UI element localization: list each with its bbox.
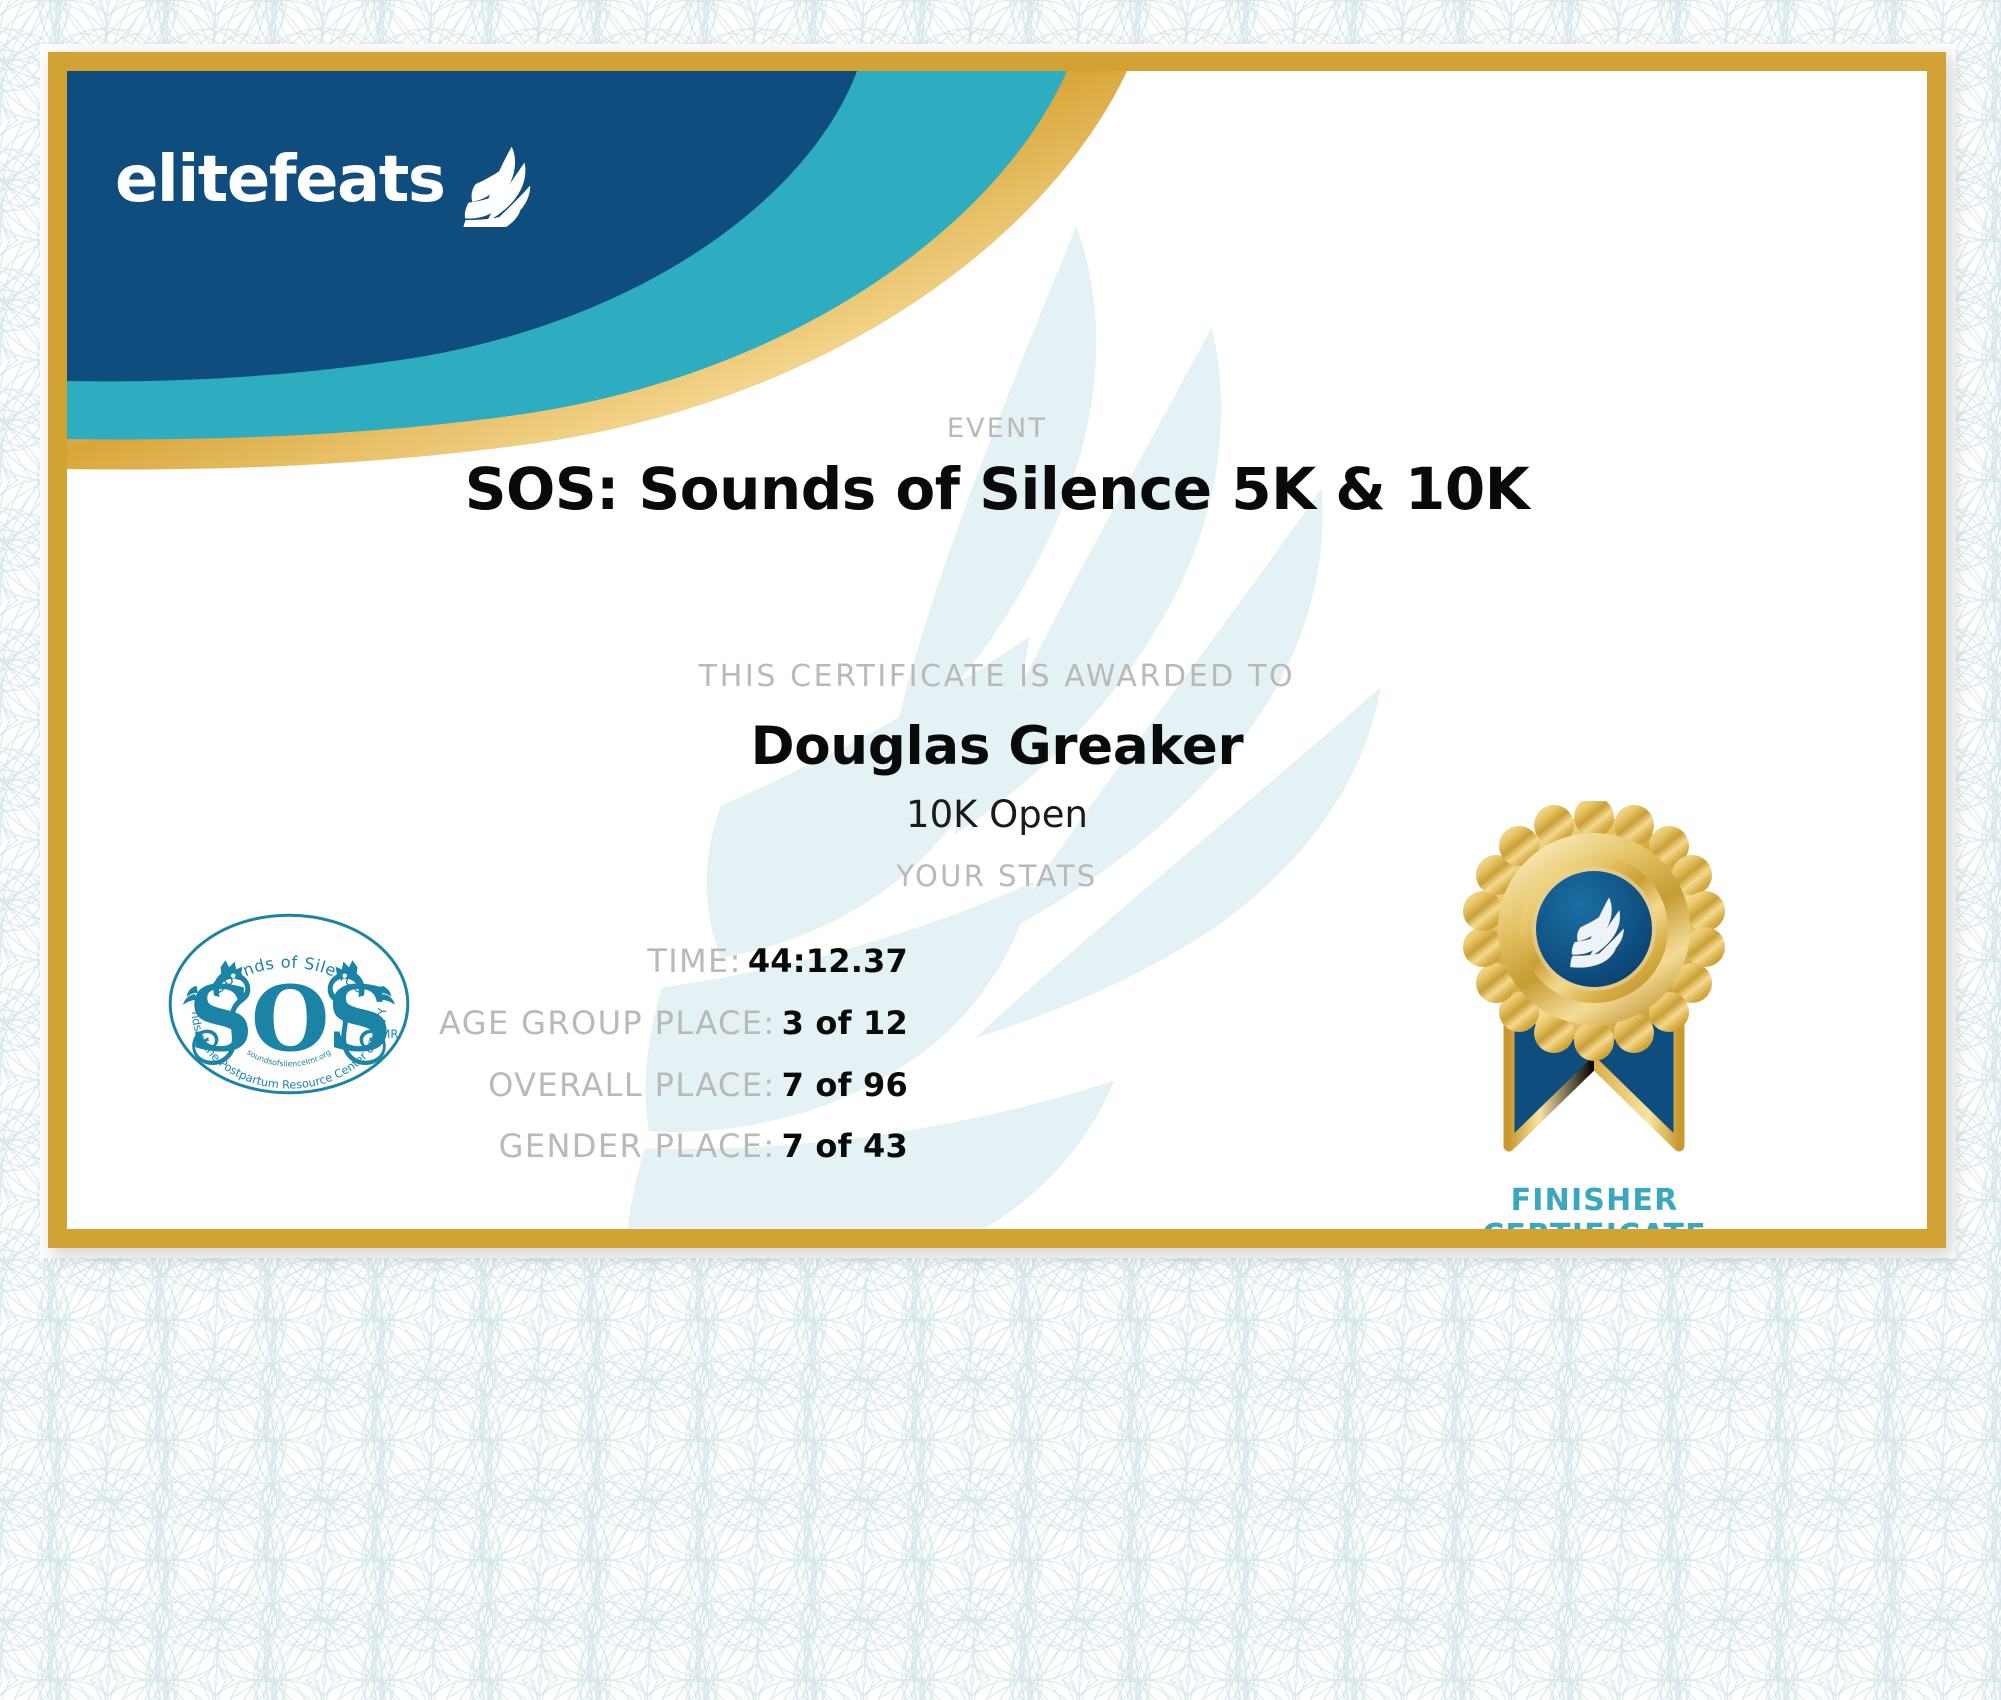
- elitefeats-logo: elitefeats: [115, 133, 536, 227]
- finisher-line-2: CERTIFICATE: [1422, 1219, 1767, 1229]
- stat-key: AGE GROUP PLACE:: [439, 1004, 776, 1042]
- recipient-name: Douglas Greaker: [67, 716, 1927, 777]
- stat-value: 7 of 96: [782, 1066, 908, 1104]
- event-title: SOS: Sounds of Silence 5K & 10K: [67, 455, 1927, 523]
- certificate-card: elitefeats EVENT SOS: Sounds of Silence …: [48, 52, 1946, 1248]
- awarded-to-label: THIS CERTIFICATE IS AWARDED TO: [67, 659, 1927, 694]
- stat-row-gender-place: GENDER PLACE:7 of 43: [67, 1128, 908, 1165]
- stat-value: 7 of 43: [782, 1127, 908, 1165]
- stat-value: 3 of 12: [782, 1004, 908, 1042]
- stat-value: 44:12.37: [748, 942, 908, 980]
- stat-key: GENDER PLACE:: [499, 1127, 776, 1165]
- stat-key: OVERALL PLACE:: [488, 1066, 776, 1104]
- finisher-medal-badge: 2024: [1459, 801, 1729, 1201]
- stat-key: TIME:: [647, 942, 742, 980]
- finisher-line-1: FINISHER: [1422, 1184, 1767, 1219]
- elitefeats-wordmark: elitefeats: [115, 148, 444, 212]
- winged-foot-icon: [450, 141, 536, 227]
- sos-event-logo: Sounds of Silence SOS LMR Friends of the…: [163, 911, 415, 1097]
- event-label: EVENT: [67, 413, 1927, 444]
- certificate-page: elitefeats EVENT SOS: Sounds of Silence …: [0, 0, 2001, 1700]
- finisher-certificate-caption: FINISHER CERTIFICATE: [1422, 1184, 1767, 1229]
